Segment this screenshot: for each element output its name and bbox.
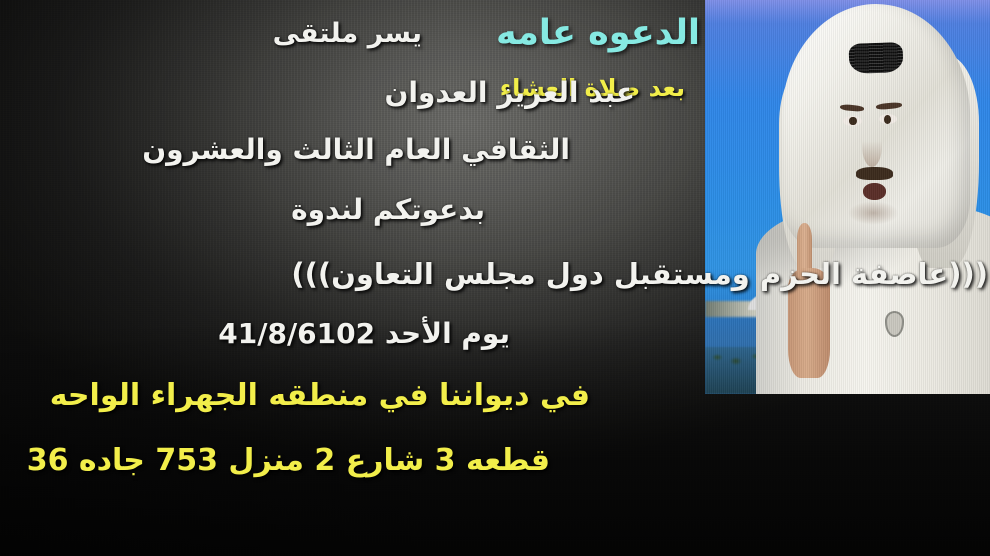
- seminar-title-text: (((عاصفة الحزم ومستقبل دول مجلس التعاون)…: [291, 260, 988, 289]
- left-pupil: [849, 117, 856, 126]
- host-intro-text: يسر ملتقى: [273, 20, 422, 47]
- chin-shadow: [848, 201, 899, 225]
- invitation-text: بدعوتكم لندوة: [291, 196, 485, 224]
- mustache: [856, 167, 893, 180]
- host-name-text: عبد العزيز العدوان: [385, 79, 635, 107]
- speaker-figure: [705, 0, 990, 394]
- right-pupil: [884, 115, 891, 124]
- mouth: [863, 183, 886, 200]
- address-line-2: قطعه 3 شارع 2 منزل 357 جاده 63: [27, 446, 550, 476]
- speaker-photo: [705, 0, 990, 394]
- nose: [862, 124, 882, 167]
- igal-black-cord: [848, 42, 903, 73]
- org-season-text: الثقافي العام الثالث والعشرون: [142, 136, 570, 164]
- invitation-slide: الدعوه عامه بعد صلاة العشاء يسر ملتقى عب…: [0, 0, 990, 556]
- headline-public-invitation: الدعوه عامه: [496, 16, 700, 51]
- address-line-1: في ديواننا في منطقه الجهراء الواحه: [50, 381, 590, 411]
- event-date-text: يوم الأحد 2016/8/14: [218, 320, 510, 348]
